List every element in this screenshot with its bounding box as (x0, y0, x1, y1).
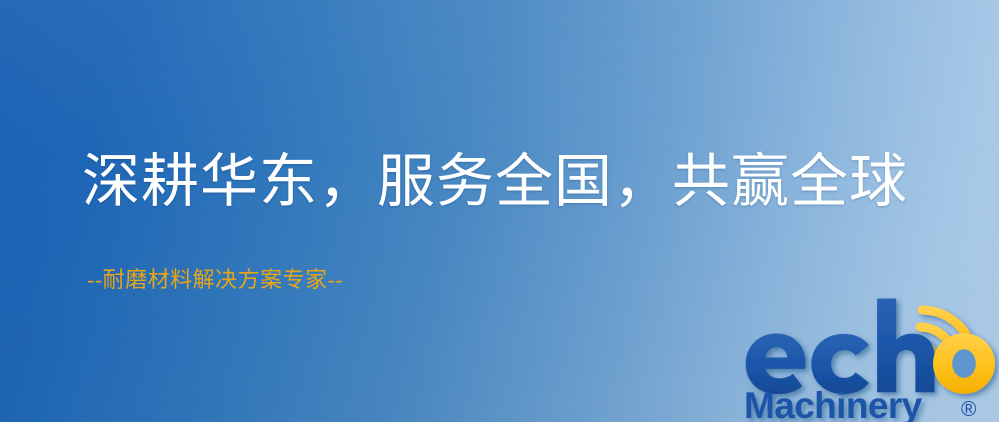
company-logo[interactable]: Machinery ® (742, 296, 999, 422)
banner-headline: 深耕华东，服务全国，共赢全球 (82, 153, 908, 211)
echo-wordmark-icon (746, 299, 995, 395)
registered-trademark-icon: ® (961, 398, 977, 421)
logo-tagline: Machinery (744, 385, 923, 422)
banner-subtitle: --耐磨材料解决方案专家-- (87, 269, 343, 291)
promo-banner: 深耕华东，服务全国，共赢全球 --耐磨材料解决方案专家-- (0, 0, 999, 422)
